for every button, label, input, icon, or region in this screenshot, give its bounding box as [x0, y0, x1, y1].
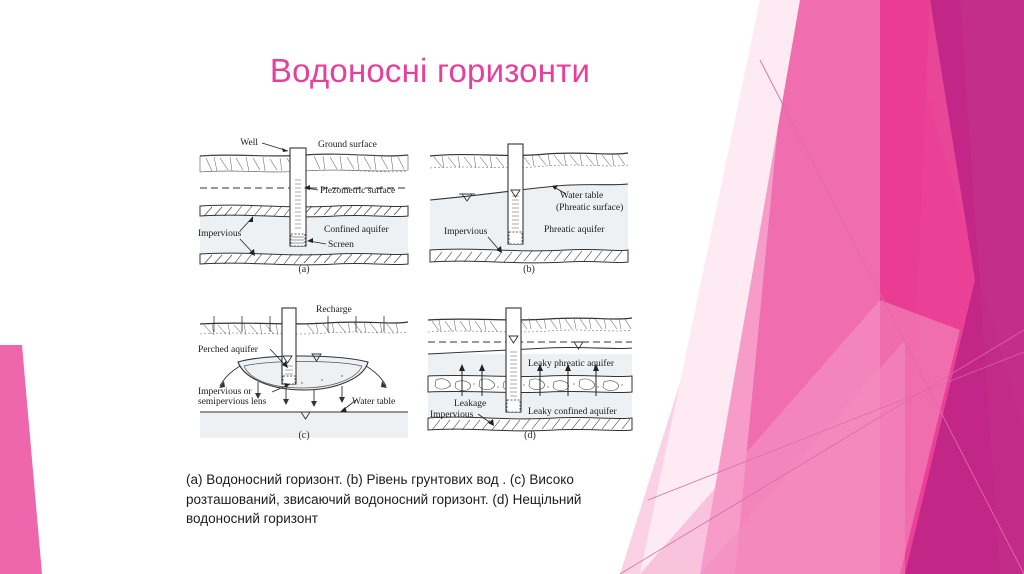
figure-caption: (a) Водоносний горизонт. (b) Рівень грун… — [186, 470, 656, 529]
panel-a-label-impervious: Impervious — [198, 229, 242, 239]
panel-c-label-semipervious-lens: semipervious lens — [198, 397, 267, 407]
panel-b-phreatic-aquifer: Water table (Phreatic surface) Imperviou… — [426, 134, 632, 290]
panel-c-perched-aquifer: Recharge Perched aquifer Impervious or s… — [196, 300, 412, 456]
panel-a-label-screen: Screen — [328, 240, 354, 250]
deco-hairline-3 — [648, 352, 1024, 500]
deco-translucent-band — [640, 300, 960, 574]
panel-c-caption: (c) — [196, 430, 412, 441]
panel-a-label-ground-surface: Ground surface — [318, 139, 377, 150]
panel-c-label-perched-aquifer: Perched aquifer — [198, 344, 259, 355]
panel-b-label-phreatic-aquifer: Phreatic aquifer — [544, 224, 605, 235]
panel-b-label-impervious: Impervious — [444, 227, 488, 237]
deco-dark-v — [905, 0, 1024, 574]
aquifer-figure: Well Ground surface Piezometric surface … — [196, 134, 636, 456]
panel-a-confined-aquifer: Well Ground surface Piezometric surface … — [196, 134, 412, 290]
panel-a-label-well: Well — [240, 138, 258, 148]
slide: Водоносні горизонти — [0, 0, 1024, 574]
slide-title: Водоносні горизонти — [150, 52, 710, 90]
panel-a-caption: (a) — [196, 264, 412, 275]
deco-right-dark-band-2 — [960, 0, 1024, 574]
deco-right-dark-band — [830, 0, 1024, 574]
panel-b-caption: (b) — [426, 264, 632, 275]
deco-left-wedge — [0, 345, 42, 574]
panel-a-label-confined-aquifer: Confined aquifer — [324, 224, 389, 235]
panel-d-leaky-aquifer: Leaky phreatic aquifer Leakage Imperviou… — [424, 300, 636, 456]
panel-d-label-leaky-phreatic-aquifer: Leaky phreatic aquifer — [528, 358, 615, 369]
deco-hairline-2 — [620, 330, 1024, 574]
panel-c-label-impervious-or: Impervious or — [198, 387, 252, 397]
panel-b-label-water-table: Water table — [560, 191, 603, 201]
panel-d-label-leakage: Leakage — [454, 399, 486, 409]
deco-light-diagonal — [660, 0, 1024, 574]
panel-c-label-recharge: Recharge — [316, 305, 352, 315]
panel-b-label-phreatic-surface: (Phreatic surface) — [556, 202, 623, 213]
panel-a-label-piezometric-surface: Piezometric surface — [320, 185, 395, 196]
deco-soft-lower-triangle — [700, 340, 905, 574]
panel-d-label-leaky-confined-aquifer: Leaky confined aquifer — [528, 406, 617, 417]
panel-d-caption: (d) — [424, 430, 636, 441]
deco-bright-wedge — [880, 0, 1000, 574]
panel-d-label-impervious: Impervious — [430, 410, 474, 420]
deco-pink-sweep-top — [735, 0, 930, 574]
deco-hairline-1 — [760, 60, 1024, 574]
panel-c-label-water-table: Water table — [352, 397, 395, 407]
